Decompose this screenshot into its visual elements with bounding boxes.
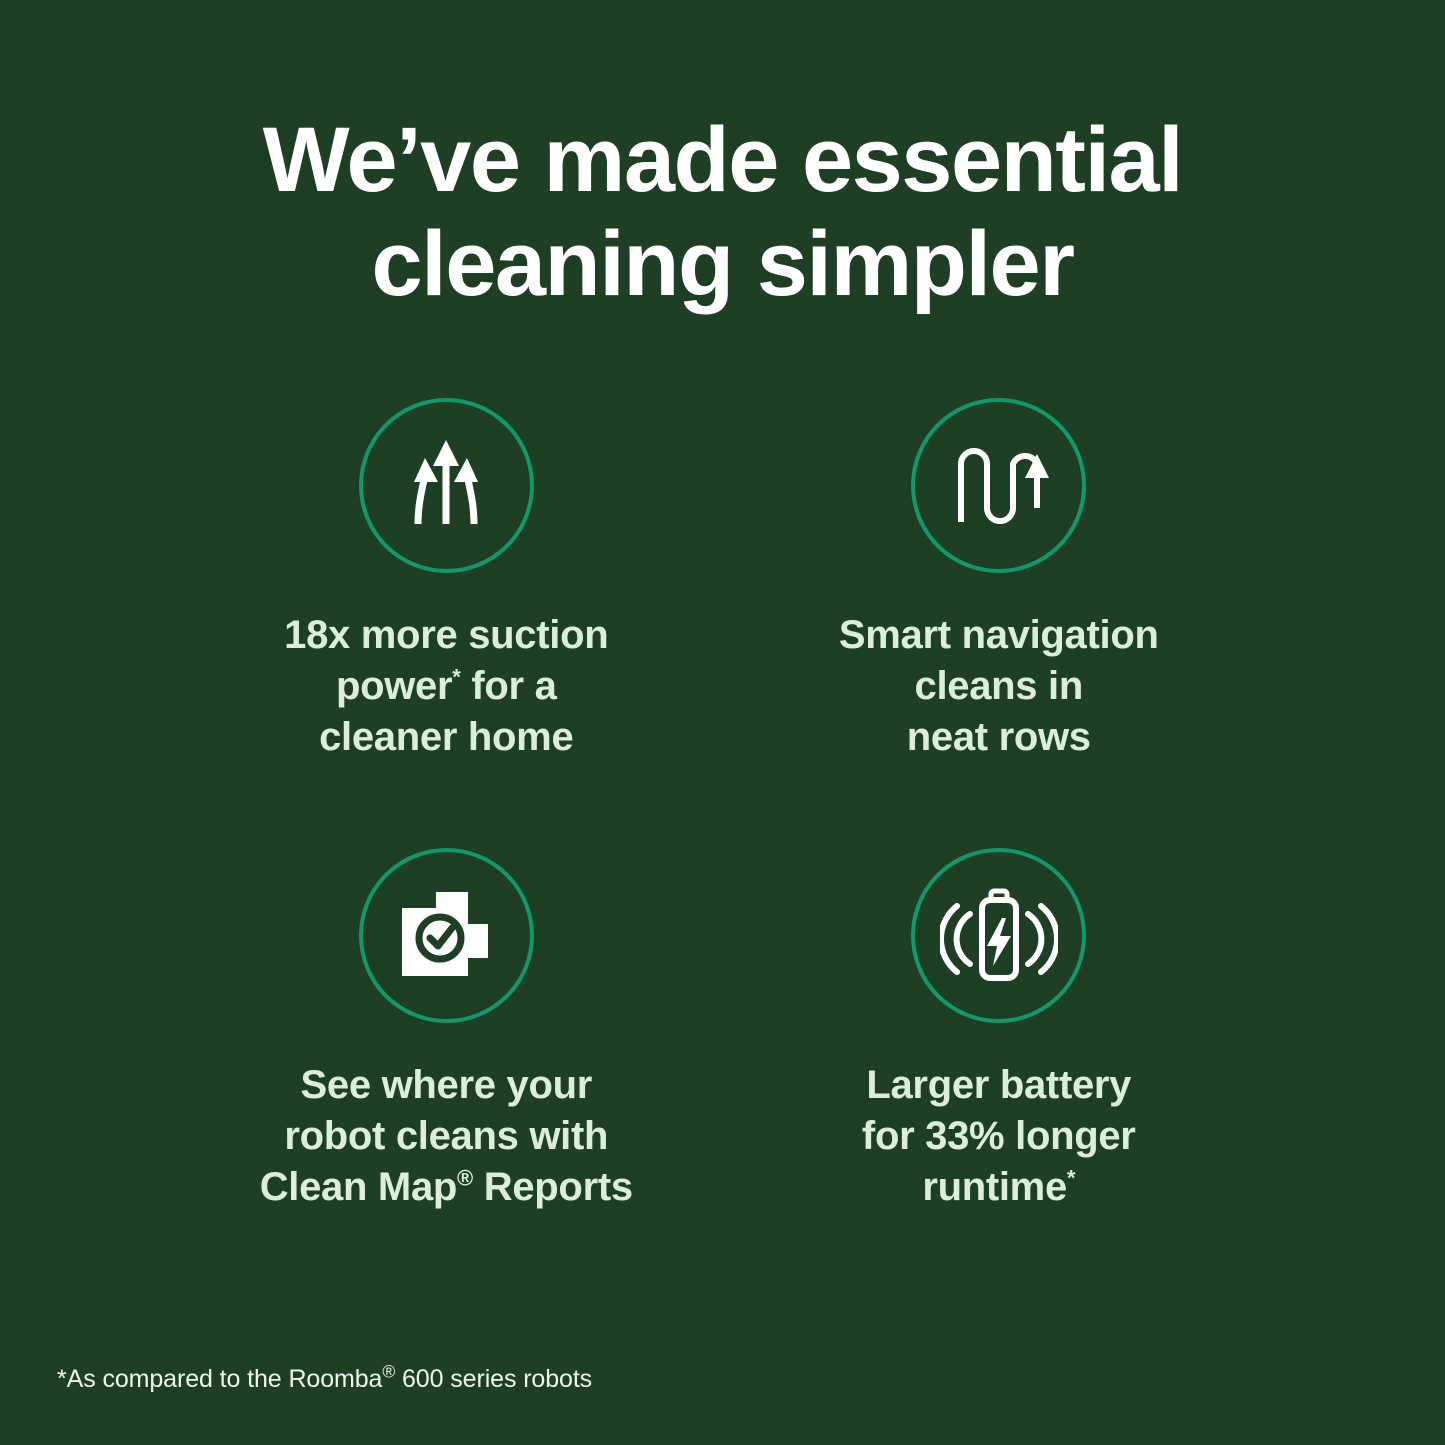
feature-caption-clean-map: See where your robot cleans with Clean M… bbox=[260, 1060, 633, 1213]
registered-mark: ® bbox=[382, 1362, 395, 1382]
caption-line-1: Larger battery bbox=[866, 1063, 1131, 1107]
suction-arrows-icon bbox=[388, 428, 504, 544]
footnote-disclaimer: *As compared to the Roomba® 600 series r… bbox=[57, 1365, 592, 1394]
icon-ring-suction bbox=[359, 398, 534, 573]
feature-item-clean-map: See where your robot cleans with Clean M… bbox=[170, 848, 723, 1298]
promo-poster: We’ve made essential cleaning simpler bbox=[0, 0, 1445, 1445]
caption-line-1: See where your bbox=[301, 1063, 592, 1107]
feature-item-suction: 18x more suction power* for a cleaner ho… bbox=[170, 398, 723, 848]
caption-line-2-post: for a bbox=[461, 664, 557, 708]
footnote-text-post: 600 series robots bbox=[395, 1365, 592, 1393]
caption-line-3: runtime bbox=[922, 1165, 1067, 1209]
feature-caption-navigation: Smart navigation cleans in neat rows bbox=[839, 610, 1159, 763]
footnote-text: *As compared to the Roomba bbox=[57, 1365, 382, 1393]
caption-line-3: neat rows bbox=[907, 715, 1091, 759]
caption-line-1: 18x more suction bbox=[284, 613, 608, 657]
asterisk-marker: * bbox=[452, 665, 460, 690]
clean-map-report-icon bbox=[390, 880, 502, 992]
battery-charging-icon bbox=[940, 880, 1058, 992]
feature-item-battery: Larger battery for 33% longer runtime* bbox=[723, 848, 1276, 1298]
serpentine-navigation-icon bbox=[943, 430, 1055, 542]
caption-line-3-post: Reports bbox=[473, 1165, 633, 1209]
feature-caption-battery: Larger battery for 33% longer runtime* bbox=[862, 1060, 1136, 1213]
headline-line-1: We’ve made essential bbox=[0, 108, 1445, 212]
page-title: We’ve made essential cleaning simpler bbox=[0, 108, 1445, 316]
feature-item-navigation: Smart navigation cleans in neat rows bbox=[723, 398, 1276, 848]
caption-line-2: robot cleans with bbox=[284, 1114, 608, 1158]
registered-mark: ® bbox=[457, 1166, 473, 1191]
caption-line-2: for 33% longer bbox=[862, 1114, 1136, 1158]
caption-line-2: power bbox=[336, 664, 452, 708]
headline-line-2: cleaning simpler bbox=[0, 212, 1445, 316]
icon-ring-battery bbox=[911, 848, 1086, 1023]
caption-line-3: cleaner home bbox=[319, 715, 573, 759]
feature-grid: 18x more suction power* for a cleaner ho… bbox=[170, 398, 1275, 1298]
caption-line-3: Clean Map bbox=[260, 1165, 457, 1209]
icon-ring-navigation bbox=[911, 398, 1086, 573]
asterisk-marker: * bbox=[1067, 1166, 1075, 1191]
caption-line-2: cleans in bbox=[915, 664, 1084, 708]
icon-ring-clean-map bbox=[359, 848, 534, 1023]
feature-caption-suction: 18x more suction power* for a cleaner ho… bbox=[284, 610, 608, 763]
caption-line-1: Smart navigation bbox=[839, 613, 1159, 657]
